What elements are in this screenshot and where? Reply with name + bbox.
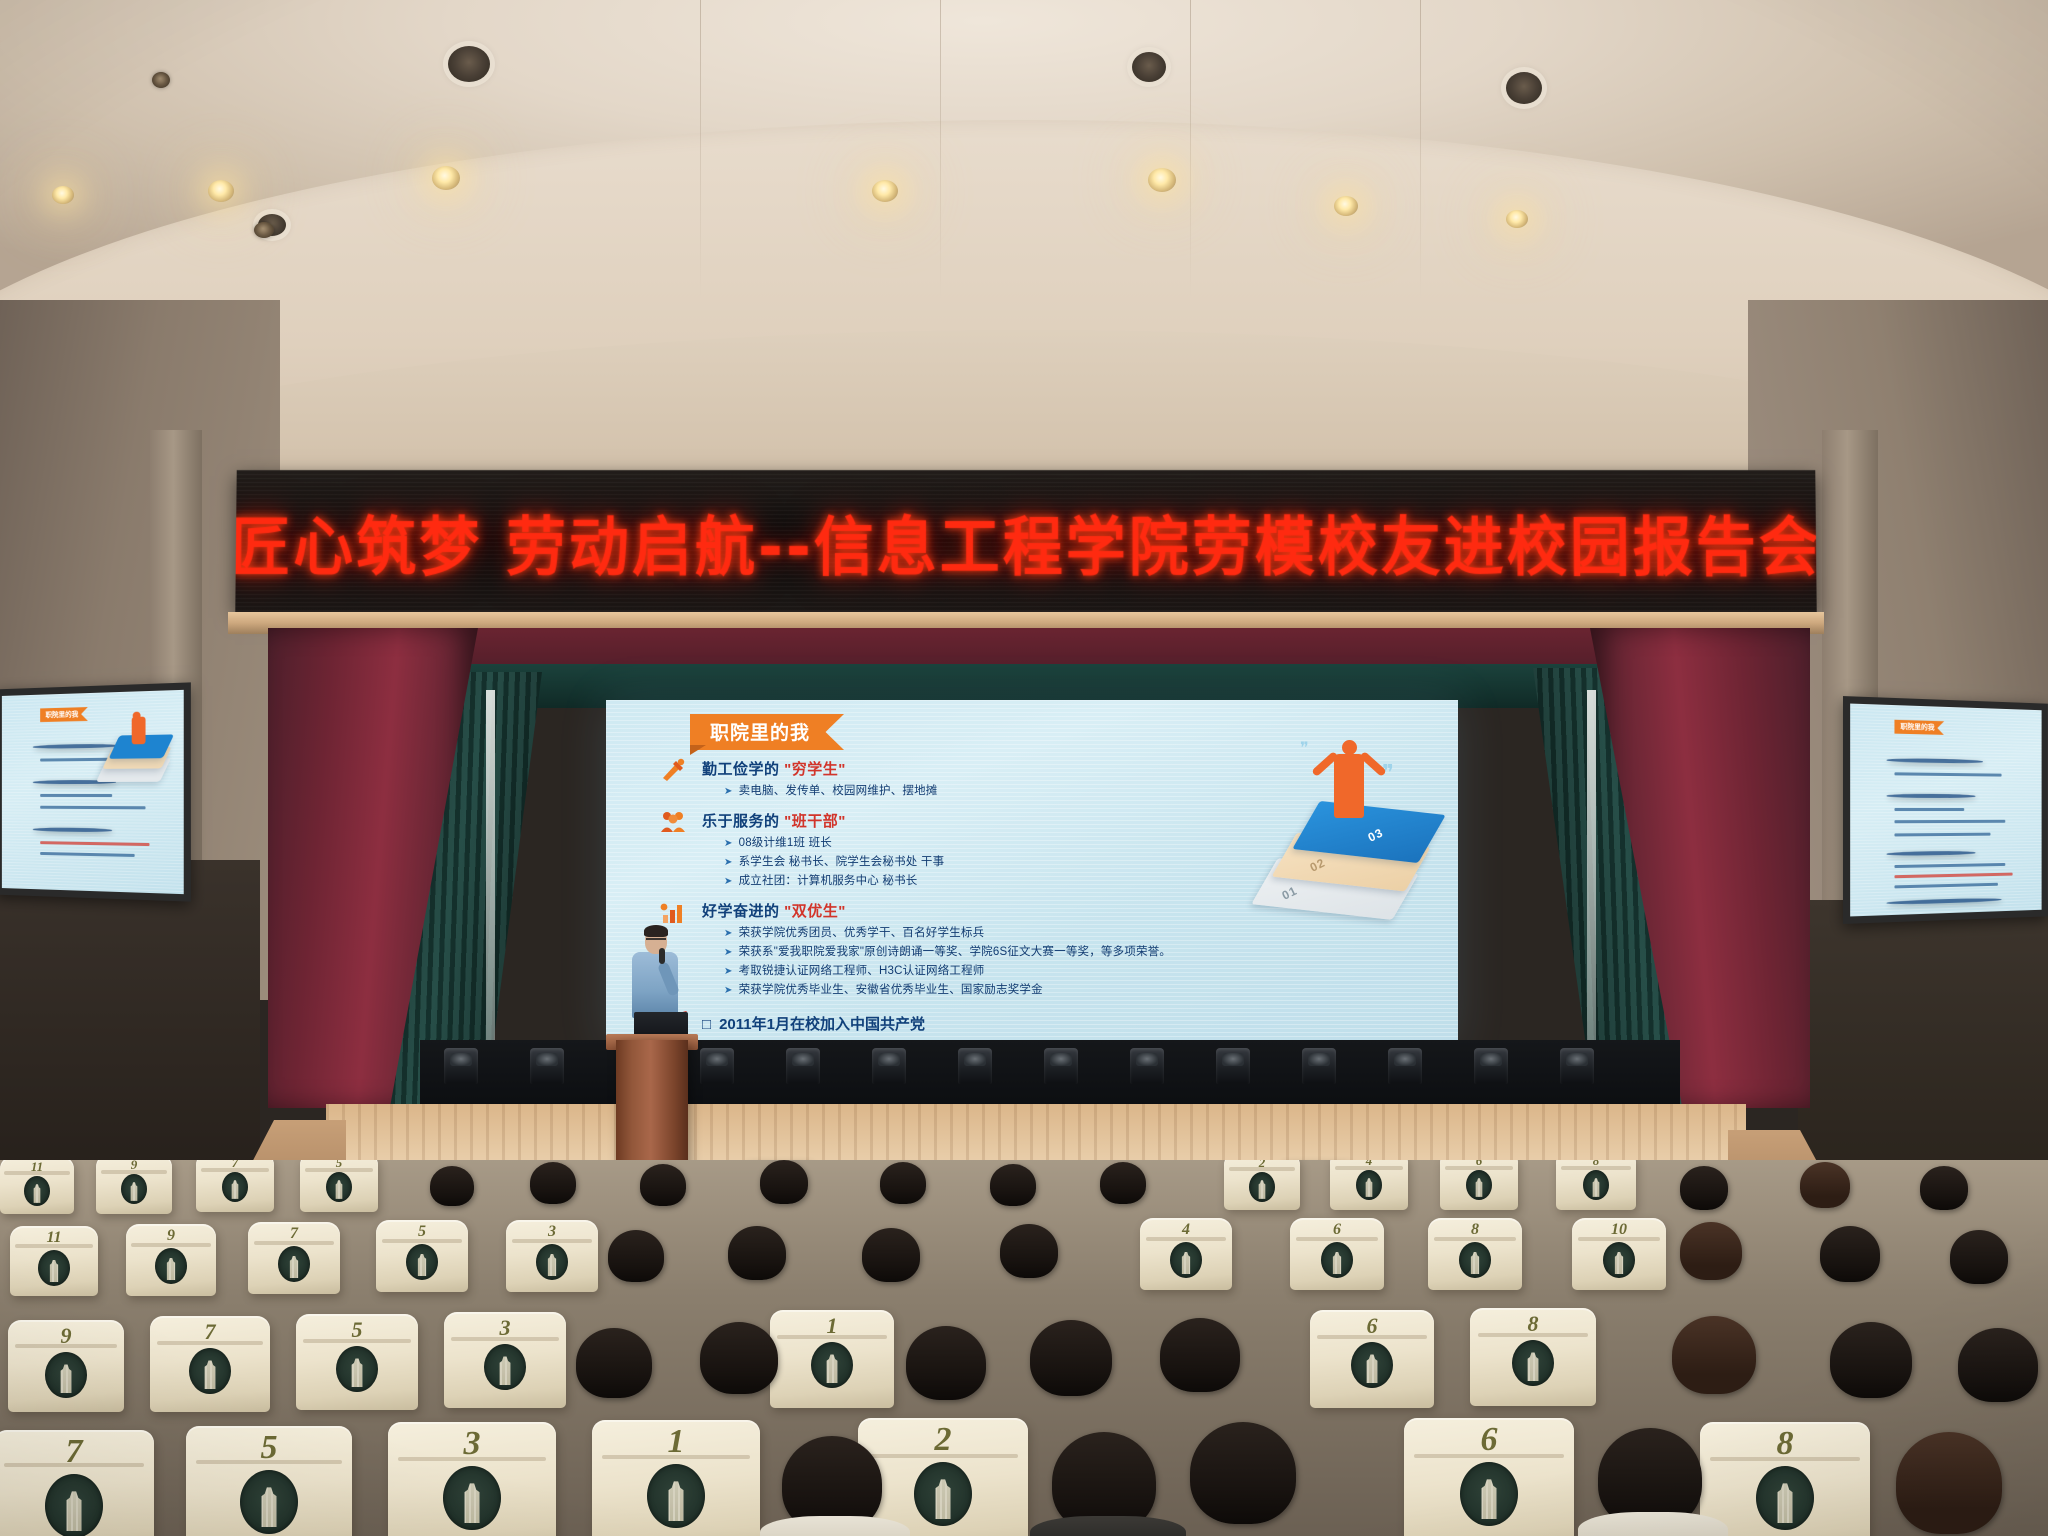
- seat: 5: [300, 1160, 378, 1212]
- seat: 1: [770, 1310, 894, 1408]
- college-tower-emblem: [1466, 1170, 1492, 1200]
- audience-head: [1830, 1322, 1912, 1398]
- stage-light: [1130, 1048, 1164, 1084]
- seat: 9: [8, 1320, 124, 1412]
- audience-head: [1100, 1162, 1146, 1204]
- slide-subitem: ➤考取锐捷认证网络工程师、H3C认证网络工程师: [724, 962, 1402, 978]
- left-wall-monitor: 职院里的我: [0, 682, 191, 901]
- audience-head: [1000, 1224, 1058, 1278]
- microphone-icon: [659, 948, 665, 964]
- ceiling-seam: [940, 0, 941, 300]
- college-tower-emblem: [1356, 1170, 1382, 1200]
- college-tower-emblem: [1603, 1242, 1635, 1278]
- slide-section-3: 好学奋进的 "双优生" ➤荣获学院优秀团员、优秀学干、百名好学生标兵 ➤荣获系"…: [702, 900, 1402, 997]
- seat: 8: [1470, 1308, 1596, 1406]
- seat: 3 职业技术学院: [388, 1422, 556, 1536]
- college-tower-emblem: [1512, 1340, 1554, 1386]
- stage-light: [786, 1048, 820, 1084]
- audience-head: [1800, 1162, 1850, 1208]
- audience-head: [728, 1226, 786, 1280]
- recessed-downlight: [1148, 168, 1176, 192]
- audience-head: [1896, 1432, 2002, 1534]
- glasses-icon: [646, 938, 666, 944]
- audience-head: [530, 1162, 576, 1204]
- slide-heading-3: 好学奋进的 "双优生": [702, 900, 1402, 921]
- audience-head: [862, 1228, 920, 1282]
- left-monitor-slide: 职院里的我: [2, 690, 184, 894]
- right-monitor-slide: 职院里的我: [1850, 704, 2041, 917]
- audience-head: [1190, 1422, 1296, 1524]
- slide-subitem: ➤卖电脑、发传单、校园网维护、摆地摊: [724, 782, 1402, 798]
- seat: 5: [296, 1314, 418, 1410]
- slide-section-2: 乐于服务的 "班干部" ➤08级计维1班 班长 ➤系学生会 秘书长、院学生会秘书…: [702, 810, 1402, 888]
- seat: 11: [0, 1160, 74, 1214]
- audience-shoulders: [1030, 1516, 1186, 1536]
- college-tower-emblem: [443, 1466, 501, 1530]
- college-tower-emblem: [45, 1474, 103, 1536]
- seat: 10: [1572, 1218, 1666, 1290]
- seat: 6: [1290, 1218, 1384, 1290]
- college-tower-emblem: [914, 1462, 972, 1526]
- seat: 4: [1330, 1160, 1408, 1210]
- ribbon-tail: [690, 745, 706, 755]
- audience-head: [608, 1230, 664, 1282]
- college-tower-emblem: [45, 1352, 87, 1398]
- seat: 9: [126, 1224, 216, 1296]
- seat: 7: [248, 1222, 340, 1294]
- audience-head: [1958, 1328, 2038, 1402]
- college-tower-emblem: [189, 1348, 231, 1394]
- curtain-light-gap: [1587, 690, 1596, 1090]
- audience-head: [430, 1166, 474, 1206]
- slide-heading-1: 勤工俭学的 "穷学生": [702, 758, 1402, 779]
- slide-subitem: ➤系学生会 秘书长、院学生会秘书处 干事: [724, 853, 1402, 869]
- college-tower-emblem: [38, 1250, 70, 1286]
- seat: 3: [444, 1312, 566, 1408]
- slide-subitem: ➤荣获学院优秀毕业生、安徽省优秀毕业生、国家励志奖学金: [724, 981, 1402, 997]
- ceiling-vent: [1132, 52, 1166, 82]
- seat: 5 职业技术学院: [186, 1426, 352, 1536]
- recessed-downlight: [432, 166, 460, 190]
- illustration-figure-head: [1342, 740, 1357, 755]
- college-tower-emblem: [1756, 1466, 1814, 1530]
- arrow-bullet-icon: ➤: [724, 876, 733, 887]
- presenter-hair: [644, 925, 668, 937]
- led-banner: 匠心筑梦 劳动启航--信息工程学院劳模校友进校园报告会: [235, 470, 1816, 612]
- arrow-bullet-icon: ➤: [724, 928, 733, 939]
- audience-head: [1672, 1316, 1756, 1394]
- stage-light: [872, 1048, 906, 1084]
- seat: 8: [1556, 1160, 1636, 1210]
- auditorium-photo: 职院里的我 职院里的我: [0, 0, 2048, 1536]
- seat: 7: [196, 1160, 274, 1212]
- stage-light: [444, 1048, 478, 1084]
- slide-title: 职院里的我: [690, 714, 844, 750]
- seat: 2: [1224, 1160, 1300, 1210]
- recessed-downlight: [1334, 196, 1358, 216]
- seat: 6: [1310, 1310, 1434, 1408]
- presentation-slide: 职院里的我 ❞ ❞ 01 02 03: [606, 700, 1458, 1048]
- college-tower-emblem: [1460, 1462, 1518, 1526]
- led-banner-board: 匠心筑梦 劳动启航--信息工程学院劳模校友进校园报告会: [235, 470, 1816, 612]
- ceiling: [0, 0, 2048, 420]
- arrow-bullet-icon: ➤: [724, 838, 733, 849]
- seat: 11: [10, 1226, 98, 1296]
- seat: 5: [376, 1220, 468, 1292]
- audience-head: [1950, 1230, 2008, 1284]
- seat: 4: [1140, 1218, 1232, 1290]
- stage-light: [1302, 1048, 1336, 1084]
- stage-light: [958, 1048, 992, 1084]
- seat: 9: [96, 1160, 172, 1214]
- college-tower-emblem: [336, 1346, 378, 1392]
- people-group-icon: [656, 809, 690, 835]
- slide-subitem: ➤荣获系"爱我职院爱我家"原创诗朗诵一等奖、学院6S征文大赛一等奖，等多项荣誉。: [724, 943, 1402, 959]
- arrow-bullet-icon: ➤: [724, 966, 733, 977]
- seat: 8 职业技术学院: [1700, 1422, 1870, 1536]
- audience-head: [1820, 1226, 1880, 1282]
- college-tower-emblem: [24, 1176, 50, 1206]
- college-tower-emblem: [240, 1470, 298, 1534]
- ceiling-seam: [700, 0, 701, 300]
- college-tower-emblem: [406, 1244, 438, 1280]
- slide-final-line: □2011年1月在校加入中国共产党: [702, 1013, 925, 1034]
- hammer-wrench-icon: [656, 757, 690, 783]
- stage-light: [1388, 1048, 1422, 1084]
- slide-heading-2: 乐于服务的 "班干部": [702, 810, 1402, 831]
- college-tower-emblem: [1170, 1242, 1202, 1278]
- audience-shoulders: [760, 1516, 910, 1536]
- arrow-bullet-icon: ➤: [724, 786, 733, 797]
- college-tower-emblem: [1459, 1242, 1491, 1278]
- curtain-light-gap: [486, 690, 495, 1090]
- led-banner-text: 匠心筑梦 劳动启航--信息工程学院劳模校友进校园报告会: [235, 495, 1816, 587]
- audience-head: [700, 1322, 778, 1394]
- flying-birds-icon: ❞: [1300, 738, 1309, 758]
- arrow-bullet-icon: ➤: [724, 857, 733, 868]
- college-tower-emblem: [1249, 1172, 1275, 1202]
- projection-screen: 职院里的我 ❞ ❞ 01 02 03: [606, 700, 1458, 1048]
- audience-head: [1680, 1222, 1742, 1280]
- seat: 3: [506, 1220, 598, 1292]
- college-tower-emblem: [1321, 1242, 1353, 1278]
- recessed-downlight: [1506, 210, 1528, 228]
- audience-head: [1160, 1318, 1240, 1392]
- checkbox-bullet-icon: □: [702, 1016, 711, 1033]
- ceiling-vent: [1506, 72, 1542, 104]
- stage-light: [1560, 1048, 1594, 1084]
- college-tower-emblem: [121, 1174, 147, 1204]
- recessed-downlight: [872, 180, 898, 202]
- recessed-downlight: [208, 180, 234, 202]
- seat: 7: [150, 1316, 270, 1412]
- audience-head: [1680, 1166, 1728, 1210]
- college-tower-emblem: [222, 1172, 248, 1202]
- audience-shoulders: [1578, 1512, 1728, 1536]
- college-tower-emblem: [484, 1344, 526, 1390]
- college-tower-emblem: [536, 1244, 568, 1280]
- college-tower-emblem: [155, 1248, 187, 1284]
- audience-head: [760, 1160, 808, 1204]
- college-tower-emblem: [1351, 1342, 1393, 1388]
- ceiling-seam: [1190, 0, 1191, 300]
- recessed-downlight: [152, 72, 170, 88]
- seat: 8: [1428, 1218, 1522, 1290]
- seat: 1 职业技术学院: [592, 1420, 760, 1536]
- slide-section-1: 勤工俭学的 "穷学生" ➤卖电脑、发传单、校园网维护、摆地摊: [702, 758, 1402, 798]
- seat: 6 职业技术学院: [1404, 1418, 1574, 1536]
- college-tower-emblem: [278, 1246, 310, 1282]
- audience-head: [990, 1164, 1036, 1206]
- audience-seating: 11 9 7 5 2 4 6 8: [0, 1160, 2048, 1536]
- recessed-downlight: [254, 222, 274, 238]
- ceiling-vent: [448, 46, 490, 82]
- college-tower-emblem: [811, 1342, 853, 1388]
- stage-light: [1474, 1048, 1508, 1084]
- college-tower-emblem: [647, 1464, 705, 1528]
- seat: 6: [1440, 1160, 1518, 1210]
- stage-light: [1044, 1048, 1078, 1084]
- audience-head: [906, 1326, 986, 1400]
- audience-head: [640, 1164, 686, 1206]
- college-tower-emblem: [326, 1172, 352, 1202]
- mini-slide-title: 职院里的我: [1894, 720, 1944, 736]
- bar-chart-icon: [656, 899, 690, 925]
- right-wall-monitor: 职院里的我: [1843, 696, 2048, 924]
- audience-head: [880, 1162, 926, 1204]
- slide-bullets: 勤工俭学的 "穷学生" ➤卖电脑、发传单、校园网维护、摆地摊: [702, 758, 1402, 1004]
- ceiling-seam: [1420, 0, 1421, 300]
- audience-head: [1920, 1166, 1968, 1210]
- arrow-bullet-icon: ➤: [724, 947, 733, 958]
- slide-subitem: ➤荣获学院优秀团员、优秀学干、百名好学生标兵: [724, 924, 1402, 940]
- audience-head: [1030, 1320, 1112, 1396]
- arrow-bullet-icon: ➤: [724, 985, 733, 996]
- college-tower-emblem: [1583, 1170, 1609, 1200]
- stage-light: [700, 1048, 734, 1084]
- slide-subitem: ➤08级计维1班 班长: [724, 834, 1402, 850]
- stage-light: [1216, 1048, 1250, 1084]
- recessed-downlight: [52, 186, 74, 204]
- seat: 7 职业技术学院: [0, 1430, 154, 1536]
- slide-subitem: ➤成立社团：计算机服务中心 秘书长: [724, 872, 1402, 888]
- stage-light: [530, 1048, 564, 1084]
- audience-head: [576, 1328, 652, 1398]
- mini-slide-title: 职院里的我: [40, 707, 88, 722]
